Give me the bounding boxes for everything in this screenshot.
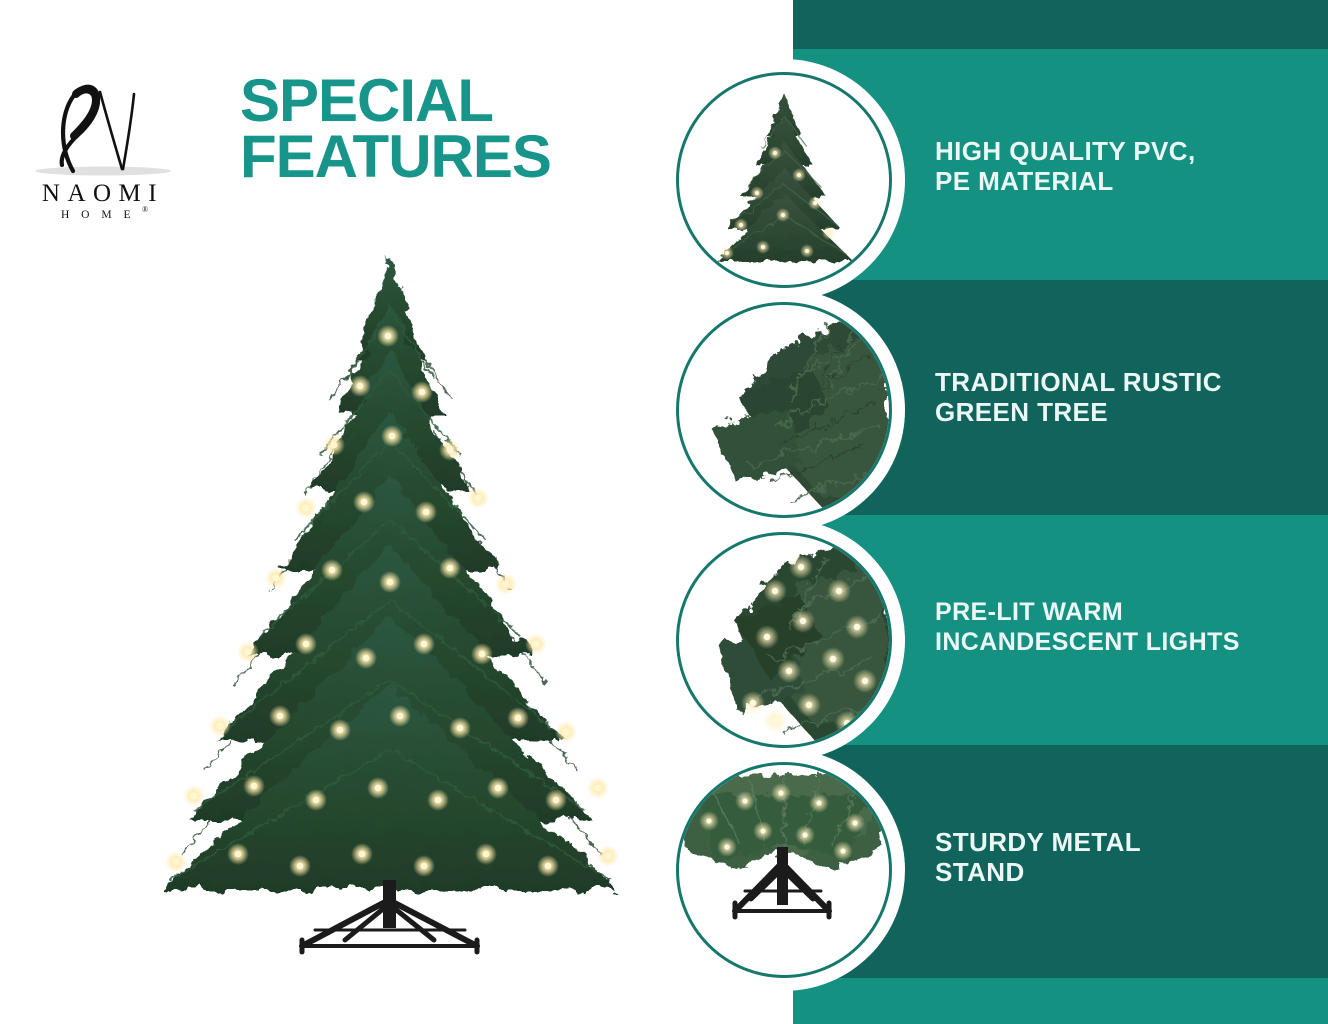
- feature-thumb-3-clip: [679, 535, 889, 745]
- feature-thumb-4: [676, 762, 892, 978]
- hero-tree-image: [120, 240, 660, 960]
- warm-lights-closeup-thumbnail-icon: [679, 535, 889, 745]
- green-branch-closeup-thumbnail-icon: [679, 305, 889, 515]
- feature-poster: NAOMI H O M E ® SPECIAL FEATURES: [0, 0, 1328, 1024]
- naomi-script-monogram-icon: NAOMI H O M E ®: [10, 68, 196, 218]
- feature-thumb-1: [676, 72, 892, 288]
- brand-name: NAOMI: [42, 180, 164, 207]
- feature-thumb-4-clip: [679, 765, 889, 975]
- feature-thumb-1-clip: [679, 75, 889, 285]
- feature-thumb-3: [676, 532, 892, 748]
- feature-label-1: HIGH QUALITY PVC, PE MATERIAL: [935, 136, 1313, 196]
- feature-label-3: PRE-LIT WARM INCANDESCENT LIGHTS: [935, 597, 1313, 657]
- feature-label-4: STURDY METAL STAND: [935, 827, 1313, 887]
- brand-logo: NAOMI H O M E ®: [10, 68, 196, 218]
- feature-thumb-2-clip: [679, 305, 889, 515]
- feature-thumb-2: [676, 302, 892, 518]
- hero-metal-stand: [302, 880, 477, 952]
- feature-label-2: TRADITIONAL RUSTIC GREEN TREE: [935, 367, 1313, 427]
- page-title: SPECIAL FEATURES: [240, 73, 670, 185]
- metal-stand-thumbnail-icon: [679, 765, 889, 975]
- band-top-accent: [793, 0, 1328, 49]
- band-bottom-accent: [793, 978, 1328, 1024]
- pre-lit-christmas-tree-hero-icon: [120, 240, 660, 960]
- brand-registered-mark: ®: [142, 205, 148, 214]
- brand-sub: H O M E: [61, 209, 135, 218]
- full-christmas-tree-thumbnail-icon: [679, 75, 889, 285]
